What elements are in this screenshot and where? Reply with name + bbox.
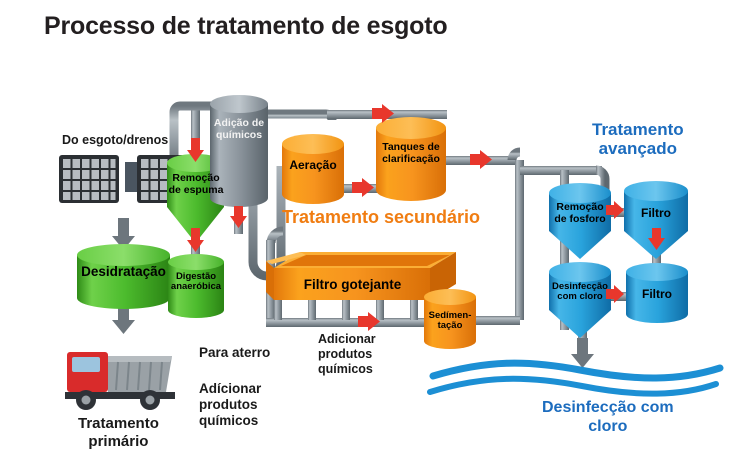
pipe-elbow-a xyxy=(512,152,520,160)
pipe-right-trunk xyxy=(515,160,524,320)
unit-phosphorus-removal[interactable] xyxy=(549,183,611,259)
arrow-down-icon-outfall xyxy=(571,338,594,368)
unit-sedimentation[interactable] xyxy=(424,289,476,349)
diagram-canvas: Processo de tratamento de esgoto xyxy=(0,0,750,462)
section-heading-advanced: Tratamento avançado xyxy=(592,120,684,159)
pipe-top-chem-out xyxy=(268,114,332,120)
caption-to-landfill: Para aterro xyxy=(199,345,270,361)
unit-dewatering[interactable] xyxy=(77,244,170,309)
unit-aeration[interactable] xyxy=(282,134,344,204)
caption-source: Do esgoto/drenos xyxy=(62,133,168,148)
caption-primary-treatment: Tratamento primário xyxy=(78,415,159,451)
unit-chemical-addition[interactable] xyxy=(210,95,268,207)
unit-chlorination[interactable] xyxy=(549,262,611,338)
diagram-graphics xyxy=(0,0,750,462)
section-heading-chlorine-disinfection: Desinfecção com cloro xyxy=(542,398,674,436)
unit-clarification-tanks[interactable] xyxy=(376,117,446,201)
unit-anaerobic-digestion[interactable] xyxy=(168,254,224,318)
water-waves-icon xyxy=(430,363,720,394)
dump-truck-icon xyxy=(65,352,175,410)
unit-filter-bottom[interactable] xyxy=(626,263,688,323)
unit-trickling-filter[interactable] xyxy=(266,252,456,300)
caption-add-chemicals-middle: Adicionar produtos químicos xyxy=(318,332,376,376)
caption-add-chemicals-left: Adícionar produtos químicos xyxy=(199,381,261,429)
section-heading-secondary: Tratamento secundário xyxy=(282,207,480,228)
trickling-filter-legs xyxy=(274,300,418,320)
